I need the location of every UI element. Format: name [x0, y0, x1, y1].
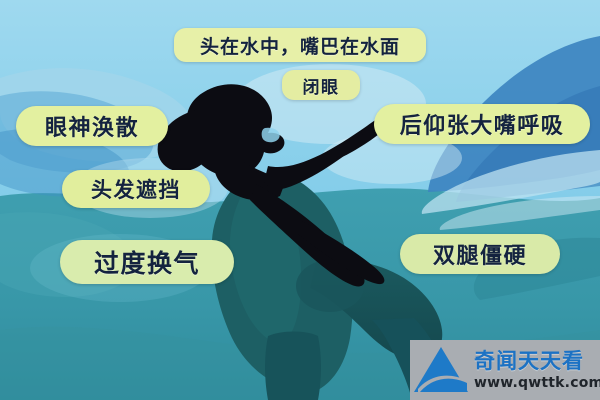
watermark-url: www.qwttk.com — [474, 376, 600, 390]
image-canvas: 头在水中，嘴巴在水面 闭眼 眼神涣散 头发遮挡 过度换气 后仰张大嘴呼吸 双腿僵… — [0, 0, 600, 400]
label-hair-covering: 头发遮挡 — [62, 170, 210, 208]
label-head-in-water: 头在水中，嘴巴在水面 — [174, 28, 426, 62]
label-gasping: 后仰张大嘴呼吸 — [374, 104, 590, 144]
label-stiff-legs: 双腿僵硬 — [400, 234, 560, 274]
watermark: 奇闻天天看 www.qwttk.com — [410, 340, 600, 400]
label-vacant-eyes: 眼神涣散 — [16, 106, 168, 146]
triangle-mountain-icon — [410, 342, 472, 398]
label-eyes-closed: 闭眼 — [282, 70, 360, 100]
watermark-text-block: 奇闻天天看 www.qwttk.com — [472, 351, 600, 390]
label-hyperventilating: 过度换气 — [60, 240, 234, 284]
figure-leg-back — [265, 332, 321, 400]
watermark-brand: 奇闻天天看 — [474, 351, 600, 372]
